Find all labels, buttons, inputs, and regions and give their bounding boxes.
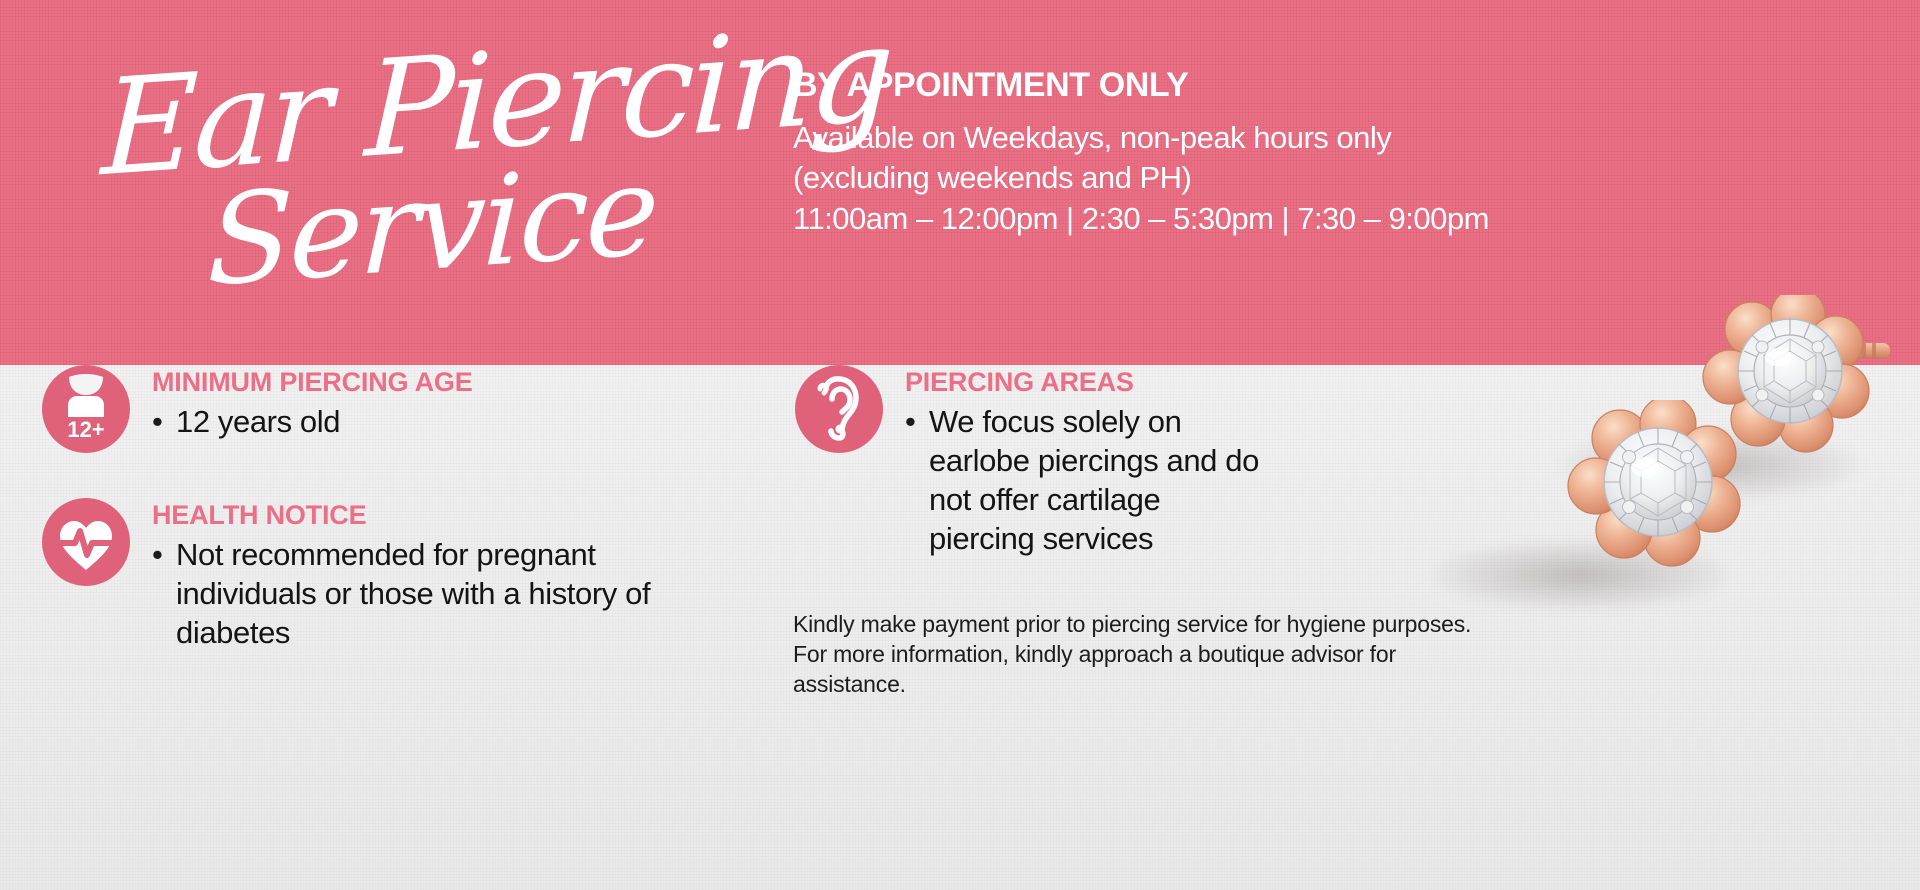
- earring-shadow: [1560, 430, 1860, 500]
- banner: Ear Piercing Service BY APPOINTMENT ONLY…: [0, 0, 1920, 365]
- hours-line: 11:00am – 12:00pm | 2:30 – 5:30pm | 7:30…: [793, 199, 1873, 239]
- availability-line-1: Available on Weekdays, non-peak hours on…: [793, 118, 1873, 158]
- text-minimum-piercing-age: 12 years old: [176, 402, 340, 441]
- appointment-info: BY APPOINTMENT ONLY Available on Weekday…: [793, 66, 1873, 239]
- logo-line-2: Service: [205, 138, 658, 314]
- heading-minimum-piercing-age: MINIMUM PIERCING AGE: [152, 367, 662, 398]
- heading-health-notice: HEALTH NOTICE: [152, 500, 692, 531]
- appointment-title: BY APPOINTMENT ONLY: [793, 66, 1873, 104]
- info-block-minimum-piercing-age: 12+ MINIMUM PIERCING AGE • 12 years old: [42, 365, 662, 453]
- footnote-payment-notice: Kindly make payment prior to piercing se…: [793, 610, 1493, 700]
- bullet-marker-icon: •: [905, 402, 929, 442]
- info-block-health-notice: HEALTH NOTICE • Not recommended for preg…: [42, 498, 692, 652]
- bullet-row: • 12 years old: [152, 402, 662, 442]
- ear-piercing-icon: [795, 365, 883, 453]
- heart-pulse-icon: [42, 498, 130, 586]
- block-body: PIERCING AREAS • We focus solely on earl…: [905, 365, 1265, 558]
- icon-age-label: 12+: [67, 417, 104, 442]
- baby-bib-12plus-icon: 12+: [42, 365, 130, 453]
- bullet-marker-icon: •: [152, 535, 176, 575]
- earring-shadow: [1430, 540, 1730, 610]
- bullet-row: • Not recommended for pregnant individua…: [152, 535, 692, 652]
- block-body: MINIMUM PIERCING AGE • 12 years old: [152, 365, 662, 442]
- availability-line-2: (excluding weekends and PH): [793, 158, 1873, 198]
- block-body: HEALTH NOTICE • Not recommended for preg…: [152, 498, 692, 652]
- bullet-row: • We focus solely on earlobe piercings a…: [905, 402, 1265, 558]
- text-health-notice: Not recommended for pregnant individuals…: [176, 535, 692, 652]
- brand-logo: Ear Piercing Service: [96, 42, 796, 332]
- ear-piercing-service-poster: Ear Piercing Service BY APPOINTMENT ONLY…: [0, 0, 1920, 890]
- info-block-piercing-areas: PIERCING AREAS • We focus solely on earl…: [795, 365, 1265, 558]
- bullet-marker-icon: •: [152, 402, 176, 442]
- text-piercing-areas: We focus solely on earlobe piercings and…: [929, 402, 1265, 558]
- heading-piercing-areas: PIERCING AREAS: [905, 367, 1265, 398]
